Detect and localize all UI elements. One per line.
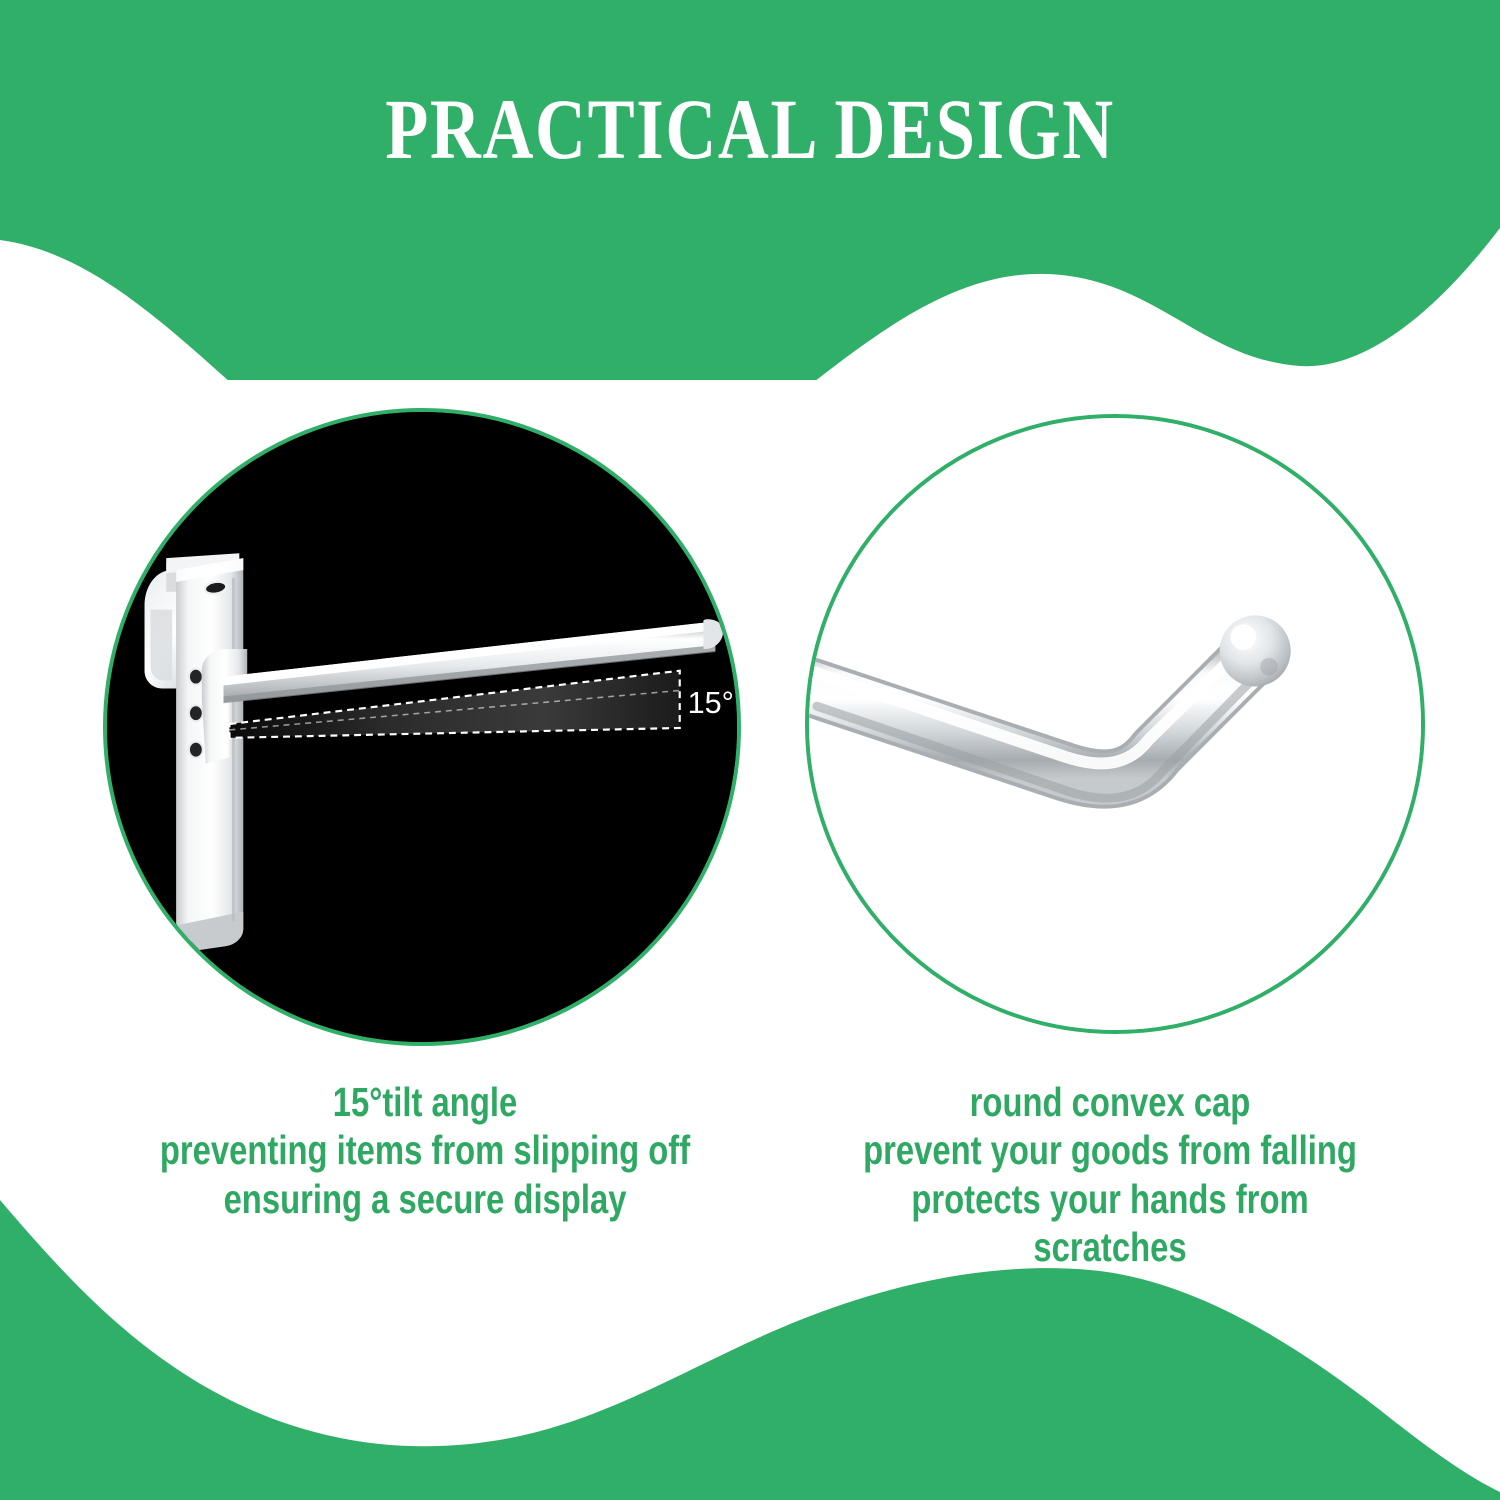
caption-line: round convex cap (794, 1078, 1426, 1126)
caption-line: 15°tilt angle (109, 1078, 741, 1126)
header-wave-band (0, 0, 1500, 380)
feature-image-convex-cap (805, 414, 1425, 1034)
page-title: PRACTICAL DESIGN (135, 86, 1365, 172)
caption-line: preventing items from slipping off (109, 1126, 741, 1174)
angle-label: 15° (688, 686, 734, 720)
convex-cap-tip (1220, 615, 1291, 686)
header-wave-shape (0, 0, 1500, 380)
feature-image-tilt-angle: 15° (103, 408, 741, 1046)
footer-wave-shape (0, 1200, 1500, 1500)
infographic-canvas: PRACTICAL DESIGN (0, 0, 1500, 1500)
caption-line: prevent your goods from falling (794, 1126, 1426, 1174)
plate-perforations (189, 669, 203, 758)
footer-wave-band (0, 1200, 1500, 1500)
